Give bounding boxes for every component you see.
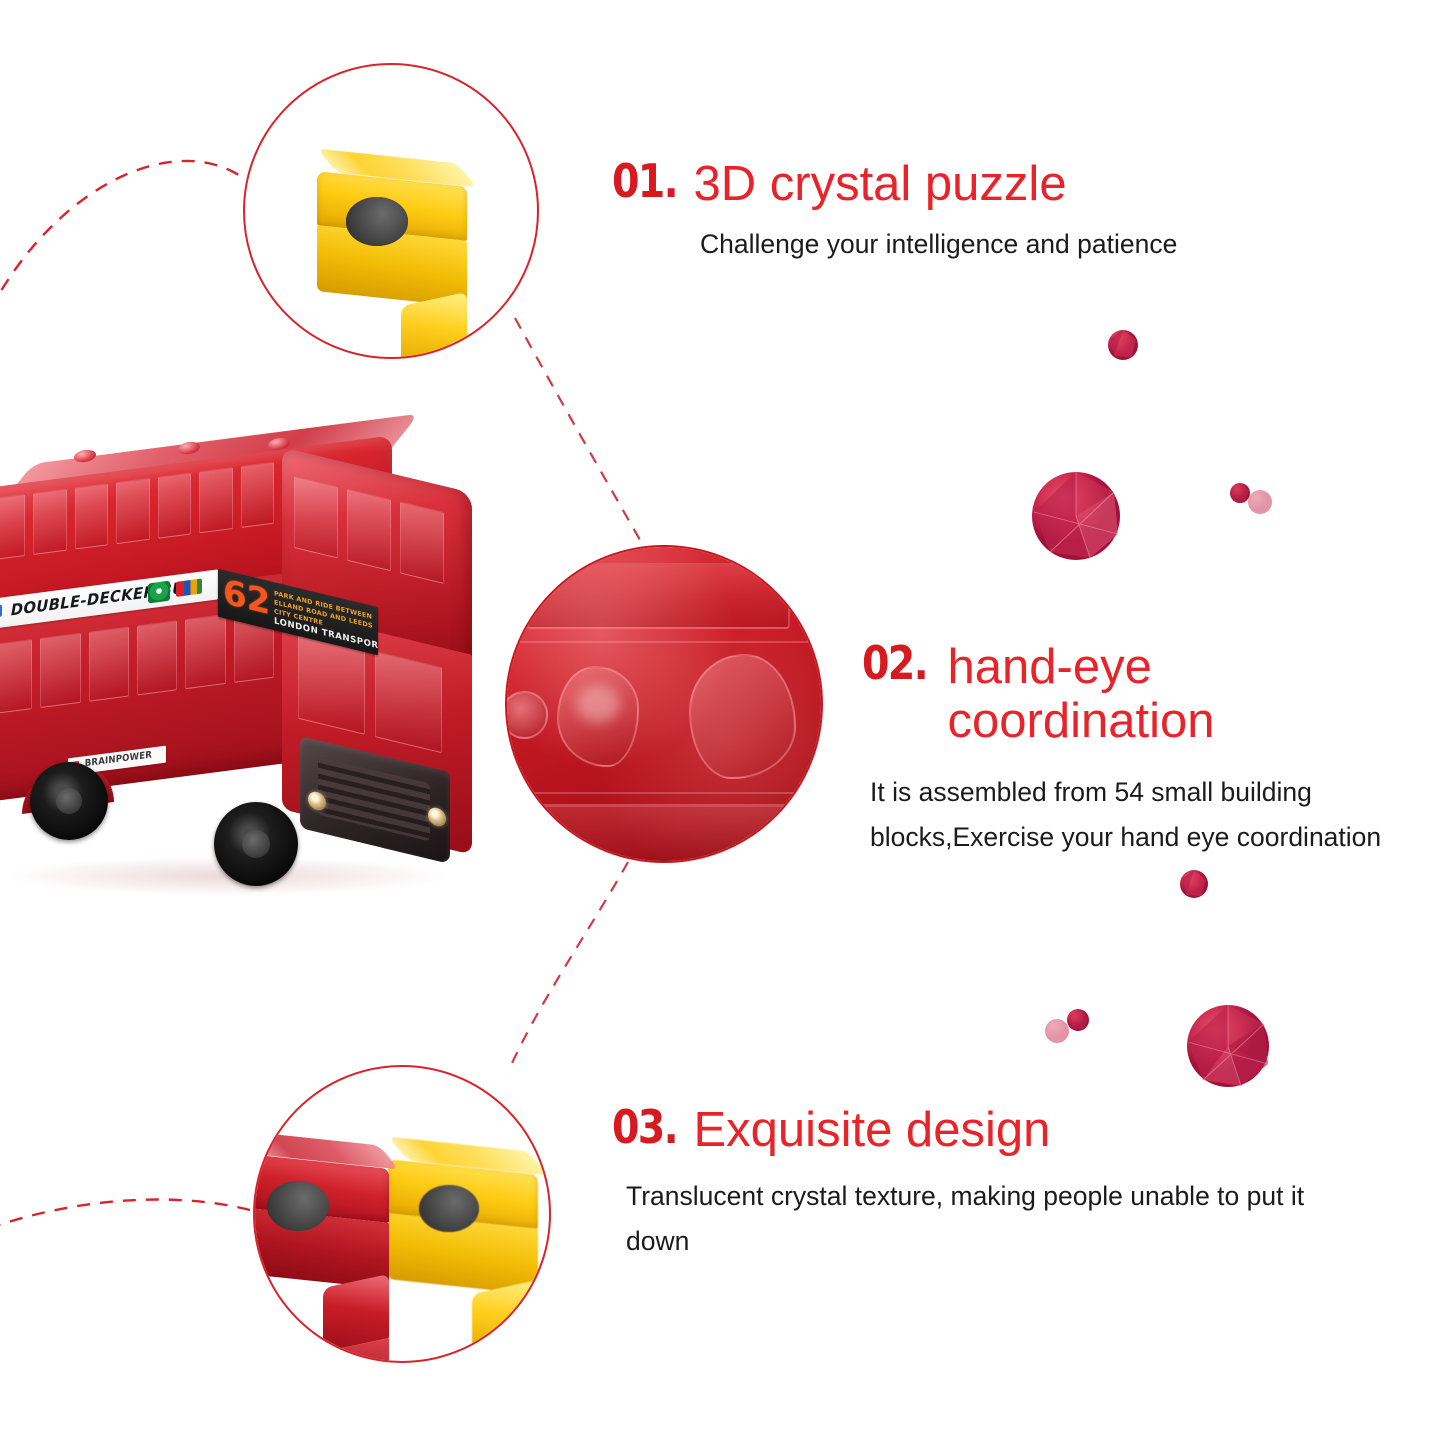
gem-tiny-right-a: [1230, 483, 1250, 503]
infographic-canvas: DOUBLE-DECKER BUS 62: [0, 0, 1445, 1445]
feature-2-number: 02.: [862, 640, 927, 686]
dashed-arc-left-top: [0, 161, 246, 310]
dashed-arc-two-to-three: [508, 862, 628, 1072]
yellow-bus-render: DOUBLE-DECKER BUS 62: [287, 157, 467, 299]
red-bus-render-small: DOUBLE-DECKER BUS 62: [253, 1139, 389, 1285]
gem-small-top: [1108, 330, 1138, 360]
feature-3-body: Translucent crystal texture, making peop…: [626, 1174, 1326, 1264]
gem-large-lower: [1187, 1005, 1269, 1087]
feature-2-body: It is assembled from 54 small building b…: [870, 770, 1390, 860]
dashed-arc-left-bottom: [0, 1200, 250, 1228]
feature-1-title: 3D crystal puzzle: [694, 158, 1067, 210]
feature-3-title: Exquisite design: [694, 1104, 1051, 1156]
feature-3-number: 03.: [612, 1104, 677, 1150]
photo-two-buses: DOUBLE-DECKER BUS 62: [253, 1065, 551, 1363]
gem-small-mid: [1180, 870, 1208, 898]
feature-1-number: 01.: [612, 158, 677, 204]
photo-yellow-bus: DOUBLE-DECKER BUS 62: [243, 63, 539, 359]
feature-3-heading: 03. Exquisite design: [612, 1104, 1326, 1156]
feature-1-heading: 01. 3D crystal puzzle: [612, 158, 1177, 210]
main-product-photo: DOUBLE-DECKER BUS 62 PARK AND RIDE BETWE…: [0, 436, 502, 936]
route-number: 62: [223, 575, 270, 620]
gem-large-upper: [1032, 472, 1120, 560]
feature-block-3: 03. Exquisite design Translucent crystal…: [612, 1104, 1326, 1264]
feature-2-title: hand-eye coordination: [948, 640, 1308, 748]
feature-block-1: 01. 3D crystal puzzle Challenge your int…: [612, 158, 1177, 267]
gem-tiny-right-b: [1248, 490, 1272, 514]
gem-tiny-lower-red: [1067, 1009, 1089, 1031]
feature-1-body: Challenge your intelligence and patience: [700, 222, 1177, 267]
gem-tiny-lower-pink: [1045, 1019, 1069, 1043]
rear-wheel: [30, 762, 108, 840]
front-wheel: [214, 802, 298, 886]
photo-macro-detail: [505, 545, 823, 863]
feature-2-heading: 02. hand-eye coordination: [862, 640, 1390, 748]
feature-block-2: 02. hand-eye coordination It is assemble…: [862, 640, 1390, 860]
